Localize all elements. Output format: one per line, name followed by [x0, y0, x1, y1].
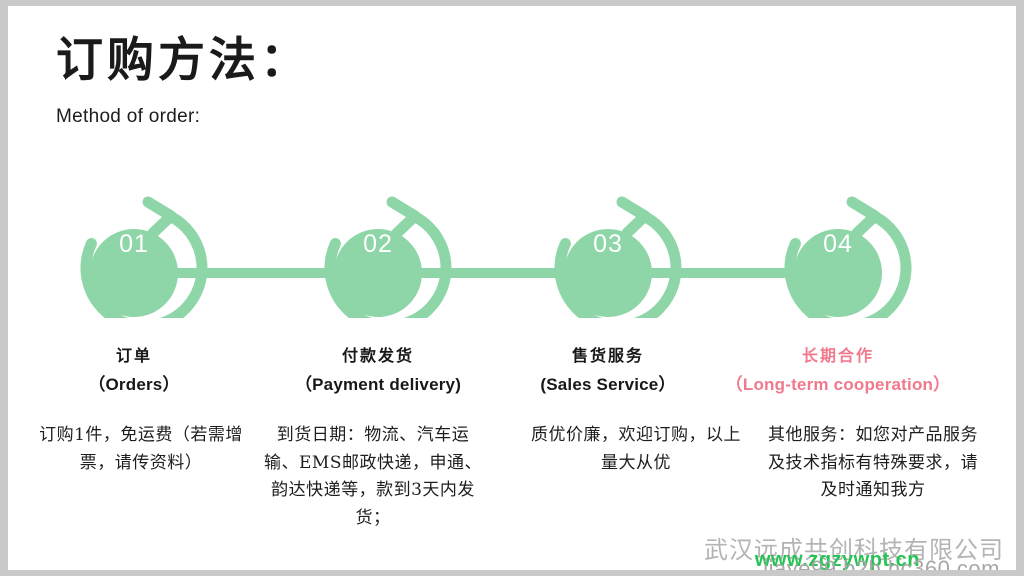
step-number-2: 02	[318, 230, 438, 259]
slide-canvas: 订购方法： Method of order:	[8, 6, 1016, 570]
watermark-website: www.zgzywpt.cn	[755, 549, 920, 570]
step-label-en-1: （Orders）	[16, 370, 252, 395]
step-label-en-2: （Payment delivery)	[260, 370, 496, 395]
step-graphic-4[interactable]	[790, 202, 906, 318]
step-body-1: 订购1件，免运费（若需增票，请传资料）	[28, 422, 254, 477]
arrow-head-2	[392, 202, 415, 233]
arrow-head-4	[852, 202, 875, 233]
step-body-2: 到货日期：物流、汽车运输、EMS邮政快递，申通、韵达快递等，款到3天内发货；	[260, 422, 486, 532]
step-label-en-3: (Sales Service）	[490, 370, 726, 395]
step-body-4: 其他服务：如您对产品服务及技术指标有特殊要求，请及时通知我方	[760, 422, 986, 505]
step-label-cn-1: 订单	[16, 346, 252, 366]
watermark-company: 武汉远成共创科技有限公司	[704, 530, 1004, 565]
step-caption-4: 长期合作 （Long-term cooperation）	[720, 346, 956, 395]
page-subtitle: Method of order:	[56, 106, 656, 128]
watermark-shop-url: jiaye99.b2b.hc360.com	[763, 556, 1000, 570]
arrow-head-1	[148, 202, 171, 233]
step-body-3: 质优价廉，欢迎订购，以上量大从优	[523, 422, 749, 477]
step-caption-3: 售货服务 (Sales Service）	[490, 346, 726, 395]
step-graphic-3[interactable]	[560, 202, 676, 318]
step-label-en-4: （Long-term cooperation）	[720, 370, 956, 395]
arrow-head-3	[622, 202, 645, 233]
step-caption-1: 订单 （Orders）	[16, 346, 252, 395]
step-number-1: 01	[74, 230, 194, 259]
step-label-cn-4: 长期合作	[720, 346, 956, 366]
process-flow-diagram: 01 02 03 04	[8, 178, 1016, 318]
page-title: 订购方法：	[56, 34, 656, 88]
step-label-cn-3: 售货服务	[490, 346, 726, 366]
title-block: 订购方法： Method of order:	[56, 34, 656, 128]
step-number-3: 03	[548, 230, 668, 259]
step-graphic-2[interactable]	[330, 202, 446, 318]
step-number-4: 04	[778, 230, 898, 259]
step-graphic-1[interactable]	[86, 202, 202, 318]
step-caption-2: 付款发货 （Payment delivery)	[260, 346, 496, 395]
step-label-cn-2: 付款发货	[260, 346, 496, 366]
